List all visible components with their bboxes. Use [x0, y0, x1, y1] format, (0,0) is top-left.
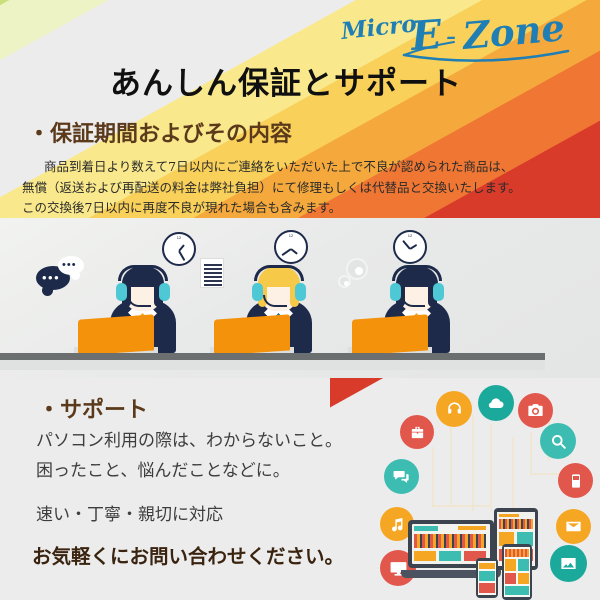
camera-icon [518, 393, 553, 428]
wire [490, 425, 492, 511]
search-icon [540, 423, 576, 459]
support-line-3: 速い・丁寧・親切に対応 [36, 500, 223, 525]
envelope-icon [556, 509, 591, 544]
page-title: あんしん保証とサポート [110, 58, 462, 103]
speech-bubble-light-dots: ••• [62, 262, 77, 269]
desk-front [0, 360, 545, 370]
warranty-body: 商品到着日より数えて7日以内にご連絡をいただいた上で不良が認められた商品は、 無… [22, 157, 582, 219]
mobile-icon [558, 463, 593, 498]
wire [472, 415, 474, 511]
image-icon [550, 545, 587, 582]
call-center-illustration: 12 12 12 ••• ••• [0, 218, 600, 378]
briefcase-icon [400, 415, 434, 449]
support-heading: ・サポート [38, 392, 148, 424]
smartphone-large-device [502, 544, 532, 600]
wire [432, 505, 490, 507]
warranty-line-2: 無償（返送および再配送の料金は弊社負担）にて修理もしくは代替品と交換いたします。 [22, 178, 582, 199]
agent-figure-1 [92, 261, 192, 353]
document-icon [200, 258, 224, 288]
clock-icon-2: 12 [274, 230, 308, 264]
cloud-icon [478, 385, 514, 421]
warranty-line-1: 商品到着日より数えて7日以内にご連絡をいただいた上で不良が認められた商品は、 [22, 157, 582, 178]
clock-icon-3: 12 [393, 230, 427, 264]
smartphone-small-device [476, 558, 498, 598]
speech-bubble-dots: ••• [42, 274, 60, 282]
wire [530, 433, 532, 473]
support-line-2: 困ったこと、悩んだことなどに。 [36, 456, 290, 481]
warranty-heading: ・保証期間およびその内容 [28, 116, 292, 148]
support-line-1: パソコン利用の際は、わからないこと。 [36, 426, 342, 451]
wire [512, 437, 514, 511]
desk-surface [0, 353, 545, 360]
support-cta: お気軽くにお問い合わせください。 [32, 540, 344, 569]
headphones-icon [436, 391, 472, 427]
wire [432, 447, 434, 507]
warranty-line-3: この交換後7日以内に再度不良が現れた場合も含みます。 [22, 198, 582, 219]
device-icon-cluster [390, 385, 600, 600]
agent-figure-2 [228, 261, 328, 353]
agent-figure-3 [366, 261, 466, 353]
banner-root: Micro E - Zone あんしん保証とサポート ・保証期間およびその内容 … [0, 0, 600, 600]
wire [450, 427, 452, 505]
chat-icon [384, 459, 419, 494]
